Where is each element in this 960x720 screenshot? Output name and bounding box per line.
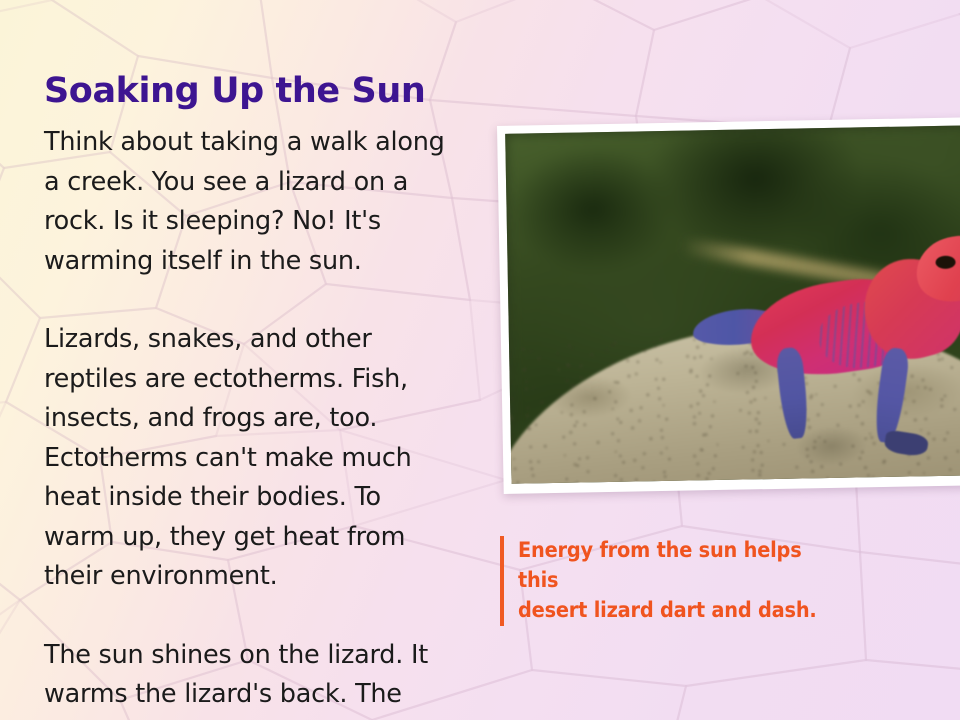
page-title: Soaking Up the Sun [44,72,454,111]
caption-line-2: desert lizard dart and dash. [518,596,848,626]
figure-caption-text: Energy from the sun helps this desert li… [518,536,848,626]
article-text-column: Soaking Up the Sun Think about taking a … [44,72,454,715]
lizard-photo-frame [497,117,960,494]
paragraph-1: Think about taking a walk along a creek.… [44,123,454,281]
paragraph-2: Lizards, snakes, and other reptiles are … [44,320,454,597]
lizard-foot [883,429,929,457]
article-page: Soaking Up the Sun Think about taking a … [0,0,960,720]
caption-line-1: Energy from the sun helps this [518,536,848,596]
lizard-photo [505,125,960,484]
vertical-rule-icon [500,536,504,626]
lizard [708,244,960,466]
paragraph-3: The sun shines on the lizard. It warms t… [44,636,454,715]
figure-caption: Energy from the sun helps this desert li… [500,536,848,626]
paragraph-spacer [44,597,454,636]
paragraph-spacer [44,281,454,320]
